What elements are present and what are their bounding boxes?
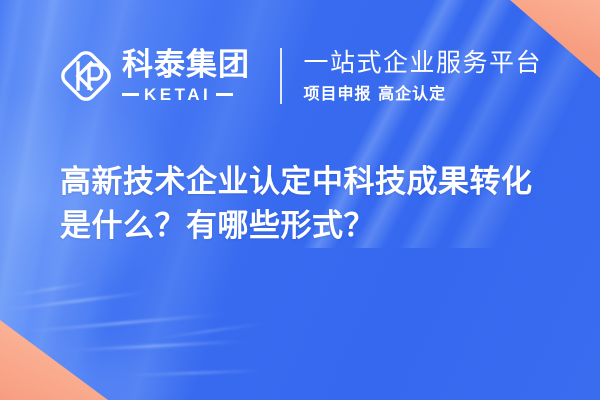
- ketai-diamond-kp-logo-icon[interactable]: [58, 48, 114, 104]
- tagline-block: 一站式企业服务平台 项目申报 高企认定: [304, 49, 543, 104]
- page-title: 高新技术企业认定中科技成果转化是什么？有哪些形式？: [60, 160, 560, 248]
- promo-banner: 科泰集团 KETAI 一站式企业服务平台 项目申报 高企认定 高新技术企业认定中…: [0, 0, 600, 400]
- header-divider: [280, 48, 282, 104]
- logo-dash-right: [216, 93, 233, 96]
- logo-english-name: KETAI: [144, 86, 211, 103]
- logo-chinese-name: 科泰集团: [122, 50, 250, 81]
- banner-header: 科泰集团 KETAI 一站式企业服务平台 项目申报 高企认定: [58, 48, 542, 104]
- tagline-secondary: 项目申报 高企认定: [304, 84, 543, 103]
- logo-english-row: KETAI: [122, 86, 250, 103]
- tagline-primary: 一站式企业服务平台: [304, 49, 543, 78]
- logo-wordmark: 科泰集团 KETAI: [122, 50, 250, 103]
- logo-dash-left: [122, 93, 139, 96]
